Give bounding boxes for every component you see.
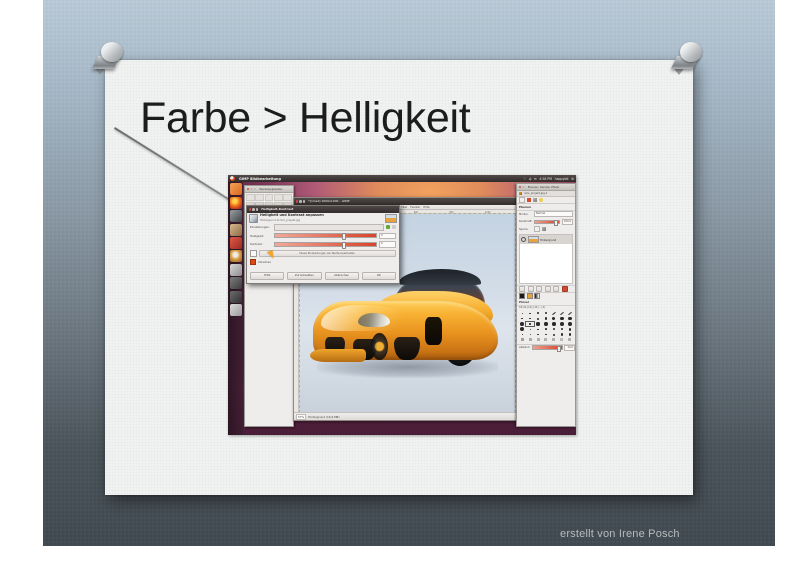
new-layer-icon[interactable] (519, 197, 525, 203)
preview-checkbox[interactable] (250, 259, 256, 265)
slider-knob[interactable] (554, 220, 558, 226)
brush-item[interactable] (526, 327, 533, 332)
brush-item[interactable] (534, 327, 541, 332)
ubuntu-logo-icon[interactable] (230, 176, 235, 181)
gear-icon[interactable]: ⚙ (571, 177, 574, 181)
close-icon[interactable] (249, 208, 252, 211)
toolbox-title: Werkzeugkasten (259, 187, 282, 191)
brush-item[interactable] (526, 311, 533, 316)
presets-select[interactable] (274, 224, 384, 231)
launcher-item-updates[interactable] (230, 291, 242, 303)
reset-button[interactable]: Zurücksetzen (287, 272, 321, 280)
add-preset-icon[interactable] (386, 225, 390, 229)
tool-align[interactable] (255, 194, 264, 201)
launcher-item-photos[interactable] (230, 224, 242, 236)
presets-label: Einstellungen: (250, 225, 272, 229)
brush-item[interactable] (542, 327, 549, 332)
image-thumb-icon[interactable] (519, 192, 523, 196)
embedded-screenshot: GIMP Bildbearbeitung ♡ ◂) ✉ 4:58 PM happ… (228, 175, 576, 435)
brush-item[interactable] (526, 332, 533, 337)
brush-item[interactable] (519, 322, 526, 327)
edit-as-curves-button[interactable]: Diese Einstellungen als Werte bearbeiten (259, 250, 397, 257)
brush-item[interactable] (566, 322, 573, 327)
user-menu-label[interactable]: happybit (555, 177, 569, 181)
menu-fenster[interactable]: Fenster (410, 205, 420, 209)
dock-titlebar[interactable]: Ebenen, Kanäle, Pfade (517, 184, 575, 191)
lock-alpha-icon[interactable] (534, 226, 540, 232)
slider-knob[interactable] (342, 242, 346, 249)
launcher-item-gimp[interactable] (230, 250, 242, 262)
slider-knob[interactable] (342, 233, 346, 240)
minimize-icon[interactable] (299, 200, 302, 203)
page-title: Farbe > Helligkeit (140, 95, 560, 142)
brush-item[interactable] (550, 332, 557, 337)
brush-item[interactable] (566, 338, 573, 343)
car-front-splitter (310, 349, 366, 363)
panel-indicators[interactable]: ♡ ◂) ✉ 4:58 PM happybit ⚙ (523, 177, 574, 181)
preview-label: Vorschau (258, 260, 271, 264)
slider-knob[interactable] (557, 346, 561, 352)
dialog-button-row[interactable]: Hilfe Zurücksetzen Abbrechen OK (247, 270, 399, 283)
dialog-window-title: Helligkeit-Kontrast (261, 207, 293, 211)
bluetooth-icon[interactable]: ♡ (523, 177, 526, 181)
brush-spacing-value[interactable]: 10,0 (564, 345, 575, 351)
layer-mode-label: Modus: (519, 213, 532, 216)
launcher-item-firefox[interactable] (230, 197, 242, 209)
brush-item[interactable] (558, 322, 565, 327)
launcher-item-software[interactable] (230, 264, 242, 276)
slide-footer: erstellt von Irene Posch (560, 528, 680, 540)
brush-item[interactable] (550, 338, 557, 343)
cancel-button[interactable]: Abbrechen (325, 272, 359, 280)
pushpin-left-icon (93, 42, 127, 80)
layer-opacity-label: Deckkraft: (519, 220, 532, 223)
contrast-slider[interactable] (274, 242, 377, 247)
brush-icon[interactable] (533, 198, 537, 202)
brush-item[interactable] (566, 316, 573, 321)
brush-item[interactable] (542, 322, 549, 327)
brush-item[interactable] (519, 316, 526, 321)
layer-list[interactable]: Hintergrund (519, 234, 573, 284)
brush-item[interactable] (542, 311, 549, 316)
slide-root: Farbe > Helligkeit GIMP Bildbearbeitung … (0, 0, 800, 566)
minimize-icon[interactable] (522, 186, 525, 189)
dock-title: Ebenen, Kanäle, Pfade (528, 185, 559, 189)
layer-name-label: Hintergrund (540, 238, 556, 242)
brush-item[interactable] (526, 316, 533, 321)
ubuntu-top-panel: GIMP Bildbearbeitung ♡ ◂) ✉ 4:58 PM happ… (228, 175, 576, 182)
menu-filter[interactable]: Filter (401, 205, 408, 209)
dock-toolrow[interactable] (517, 197, 575, 204)
launcher-item-settings[interactable] (230, 277, 242, 289)
pattern-icon[interactable] (539, 198, 543, 202)
close-icon[interactable] (247, 188, 250, 191)
brush-item[interactable] (542, 332, 549, 337)
dialog-preview-thumbnail[interactable] (385, 214, 397, 223)
layer-lock-label: Sperre: (519, 228, 532, 231)
brush-item[interactable] (558, 316, 565, 321)
volume-icon[interactable]: ◂) (529, 177, 532, 181)
dock-tab-label[interactable]: nms_projekt.jpg-1 (524, 192, 547, 195)
image-status-bar: 57% Hintergrund (16,9 MB) (294, 412, 518, 420)
brush-item[interactable] (534, 322, 541, 327)
brush-item[interactable] (558, 332, 565, 337)
brush-item[interactable] (542, 316, 549, 321)
menu-hilfe[interactable]: Hilfe (423, 205, 429, 209)
layer-opacity-slider[interactable] (534, 220, 560, 225)
brightness-slider[interactable] (274, 233, 377, 238)
layer-mode-row[interactable]: Modus: Normal (517, 211, 575, 219)
brush-item[interactable] (526, 338, 533, 343)
brush-item[interactable] (519, 338, 526, 343)
brush-item[interactable] (566, 327, 573, 332)
layer-lock-row[interactable]: Sperre: (517, 226, 575, 234)
layer-mode-select[interactable]: Normal (534, 211, 573, 217)
presets-row[interactable]: Einstellungen: (247, 223, 399, 232)
preset-menu-icon[interactable] (392, 225, 396, 229)
zoom-level[interactable]: 57% (296, 414, 306, 420)
minimize-icon[interactable] (252, 208, 255, 211)
brush-item[interactable] (534, 311, 541, 316)
tool-move[interactable] (246, 194, 255, 201)
contrast-row[interactable]: Kontrast: 0 (247, 240, 399, 249)
maximize-icon[interactable] (256, 208, 259, 211)
color-swatch-row[interactable] (517, 292, 575, 299)
maximize-icon[interactable] (254, 188, 257, 191)
mail-icon[interactable]: ✉ (534, 177, 537, 181)
selected-brush-label: Circle (11) (11) – (1) (519, 306, 545, 309)
brush-grid[interactable] (517, 310, 575, 344)
panel-app-title: GIMP Bildbearbeitung (239, 177, 281, 181)
brightness-row[interactable]: Helligkeit: 0 (247, 232, 399, 241)
brush-item[interactable] (550, 316, 557, 321)
dialog-header: Helligkeit und Kontrast anpassen Hinterg… (247, 213, 399, 224)
unity-launcher[interactable] (228, 182, 243, 435)
launcher-item-banshee[interactable] (230, 210, 242, 222)
car-roof (399, 269, 481, 285)
brush-item[interactable] (542, 338, 549, 343)
brush-item[interactable] (534, 338, 541, 343)
edit-as-curves-checkbox[interactable] (250, 250, 257, 257)
pushpin-right-icon (672, 42, 706, 80)
maximize-icon[interactable] (303, 200, 306, 203)
launcher-item-libreoffice[interactable] (230, 237, 242, 249)
close-icon[interactable] (519, 186, 522, 189)
contrast-value[interactable]: 0 (379, 241, 396, 248)
dialog-heading: Helligkeit und Kontrast anpassen (260, 214, 324, 218)
brush-item[interactable] (550, 327, 557, 332)
minimize-icon[interactable] (250, 188, 253, 191)
layer-opacity-row[interactable]: Deckkraft: 100,0 (517, 218, 575, 226)
tool-crop[interactable] (265, 194, 274, 201)
car-wheel-front (371, 333, 388, 361)
toolbox-titlebar[interactable]: Werkzeugkasten (245, 186, 293, 193)
brush-item[interactable] (558, 338, 565, 343)
brightness-value[interactable]: 0 (379, 233, 396, 240)
pin-head (680, 42, 702, 62)
brush-item[interactable] (519, 327, 526, 332)
brush-spacing-slider[interactable] (532, 345, 563, 349)
eye-icon[interactable] (521, 237, 526, 242)
close-icon[interactable] (296, 200, 299, 203)
pin-head (101, 42, 123, 62)
brightness-contrast-dialog[interactable]: Helligkeit-Kontrast Helligkeit und Kontr… (246, 205, 400, 284)
brush-item[interactable] (519, 311, 526, 316)
foreground-color-icon[interactable] (527, 198, 531, 202)
brush-item[interactable] (566, 311, 573, 316)
clock-label[interactable]: 4:58 PM (539, 177, 552, 181)
dialog-subtext: Hintergrund-11mm_projekt.jpg (260, 219, 324, 222)
brush-spacing-label: Abstand: (519, 346, 530, 349)
brush-item-selected[interactable] (526, 322, 533, 327)
brush-item[interactable] (534, 316, 541, 321)
brush-item[interactable] (550, 311, 557, 316)
layer-row-hintergrund[interactable]: Hintergrund (520, 235, 572, 244)
brightness-contrast-icon (249, 214, 258, 223)
lock-pixels-icon[interactable] (542, 227, 546, 231)
layer-opacity-value[interactable]: 100,0 (562, 219, 573, 225)
layer-info-label: Hintergrund (16,9 MB) (308, 415, 339, 419)
tool-rotate[interactable] (274, 194, 283, 201)
brush-item[interactable] (519, 332, 526, 337)
contrast-label: Kontrast: (250, 242, 272, 246)
brush-item[interactable] (566, 332, 573, 337)
ok-button[interactable]: OK (362, 272, 396, 280)
help-button[interactable]: Hilfe (250, 272, 284, 280)
brush-item[interactable] (558, 311, 565, 316)
tool-scale[interactable] (283, 194, 292, 201)
car-side-vent (425, 317, 442, 345)
layer-thumbnail (528, 236, 539, 243)
launcher-item-files[interactable] (230, 183, 242, 195)
gimp-dock-window[interactable]: Ebenen, Kanäle, Pfade nms_projekt.jpg-1 … (516, 183, 576, 427)
brush-spacing-row[interactable]: Abstand: 10,0 (517, 344, 575, 351)
launcher-item-trash[interactable] (230, 304, 242, 316)
image-window-title: *[nms2] 1600x1200 – GIMP (308, 199, 349, 203)
layer-button-row[interactable] (517, 285, 575, 292)
brush-item[interactable] (558, 327, 565, 332)
brush-item[interactable] (550, 322, 557, 327)
brightness-label: Helligkeit: (250, 234, 272, 238)
brush-item[interactable] (534, 332, 541, 337)
